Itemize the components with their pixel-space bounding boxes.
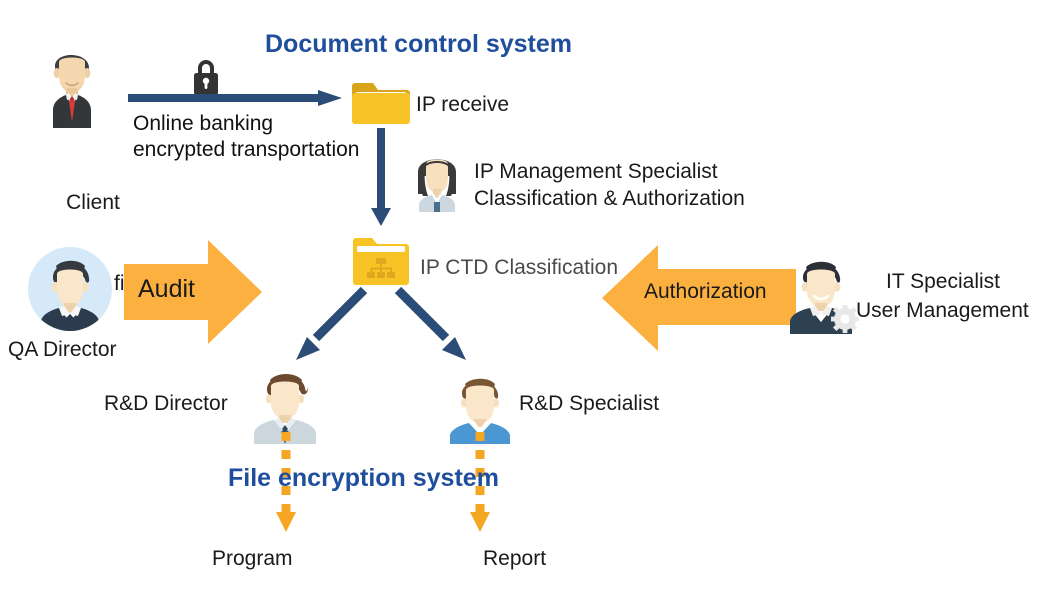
connector-ip-ctd-to-rd-director — [290, 286, 370, 366]
ip-ctd-classification-label: IP CTD Classification — [420, 254, 618, 281]
rd-director-label: R&D Director — [104, 390, 228, 417]
qa-director-label: QA Director — [8, 336, 117, 363]
ip-receive-label: IP receive — [416, 91, 509, 118]
connector-ip-receive-to-ip-ctd — [368, 128, 394, 228]
ip-management-specialist-label-line2: Classification & Authorization — [474, 185, 745, 212]
woman-avatar-icon — [407, 146, 467, 212]
connector-label-online-banking: Online banking — [133, 112, 273, 136]
ip-management-specialist-avatar — [407, 146, 467, 212]
program-label: Program — [212, 545, 293, 572]
man-circle-avatar-icon — [27, 246, 113, 332]
ip-receive-folder — [350, 78, 412, 128]
solid-arrow-diagonal-left-icon — [290, 286, 370, 366]
it-specialist-label-line2: User Management — [856, 297, 1029, 324]
solid-arrow-down-icon — [368, 128, 394, 228]
section-title-file-encryption-system: File encryption system — [228, 464, 499, 493]
it-specialist-avatar — [786, 252, 862, 334]
folder-orgchart-icon — [352, 234, 410, 288]
client-avatar — [33, 42, 111, 128]
qa-director-avatar — [27, 246, 113, 332]
it-specialist-label-line1: IT Specialist — [886, 268, 1000, 295]
connector-client-to-ip-receive — [128, 88, 344, 110]
connector-label-encrypted-transportation: encrypted transportation — [133, 138, 359, 162]
man-suit-avatar-icon — [33, 42, 111, 128]
audit-label: Audit — [138, 275, 195, 304]
diagram-canvas: Document control system Cl — [0, 0, 1056, 600]
rd-specialist-label: R&D Specialist — [519, 390, 659, 417]
authorization-label: Authorization — [644, 280, 767, 304]
client-label-line1: Client — [33, 189, 153, 216]
connector-ip-ctd-to-rd-specialist — [392, 286, 472, 366]
solid-arrow-right-icon — [128, 88, 344, 110]
man-gear-avatar-icon — [786, 252, 862, 334]
page-title-document-control-system: Document control system — [265, 30, 572, 59]
folder-open-icon — [350, 78, 412, 128]
ip-ctd-folder — [352, 234, 410, 288]
solid-arrow-diagonal-right-icon — [392, 286, 472, 366]
report-label: Report — [483, 545, 546, 572]
ip-management-specialist-label-line1: IP Management Specialist — [474, 158, 718, 185]
